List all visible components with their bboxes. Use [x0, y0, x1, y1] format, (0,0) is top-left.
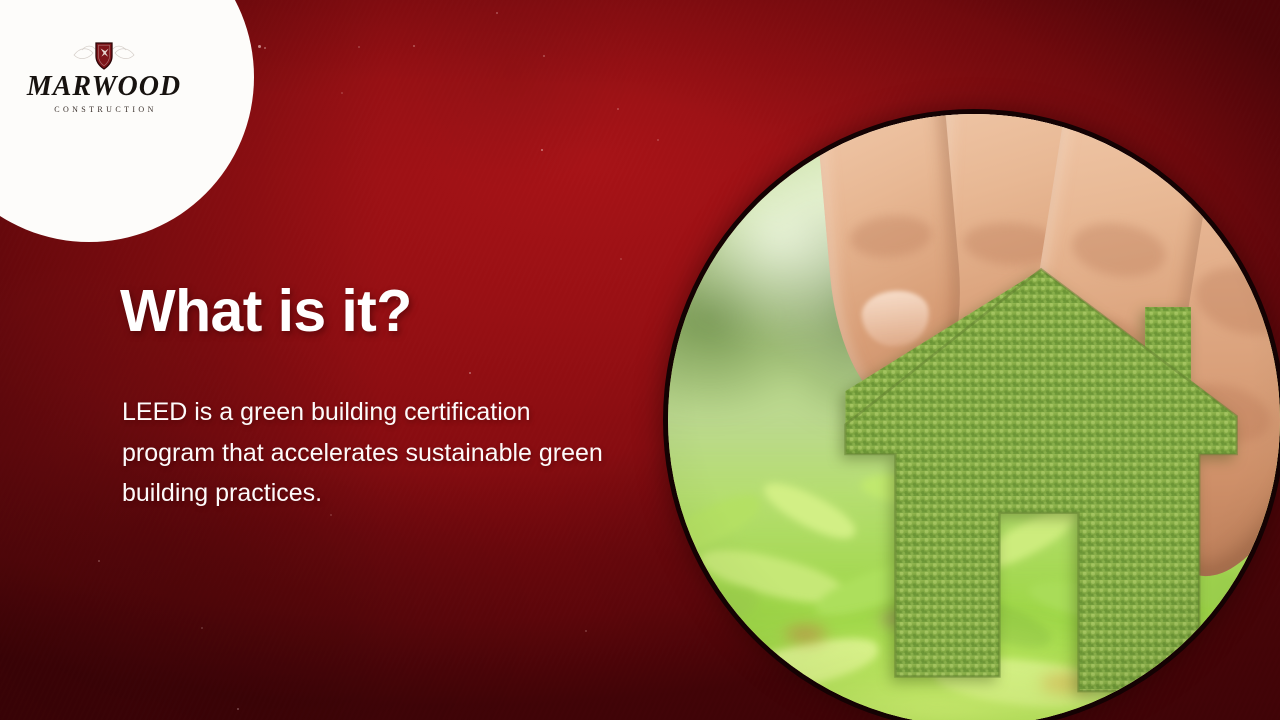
green-house-photo: [668, 114, 1280, 720]
photo-circle: [668, 114, 1280, 720]
presentation-slide: MARWOOD CONSTRUCTION What is it? LEED is…: [0, 0, 1280, 720]
shield-crest-icon: [16, 38, 192, 72]
logo-wordmark: MARWOOD: [16, 73, 192, 101]
grass-house-icon: [833, 261, 1249, 702]
logo-tagline: CONSTRUCTION: [16, 105, 192, 114]
logo-lockup: MARWOOD CONSTRUCTION: [16, 38, 192, 114]
slide-body-text: LEED is a green building certification p…: [122, 392, 612, 514]
slide-heading: What is it?: [120, 281, 412, 342]
